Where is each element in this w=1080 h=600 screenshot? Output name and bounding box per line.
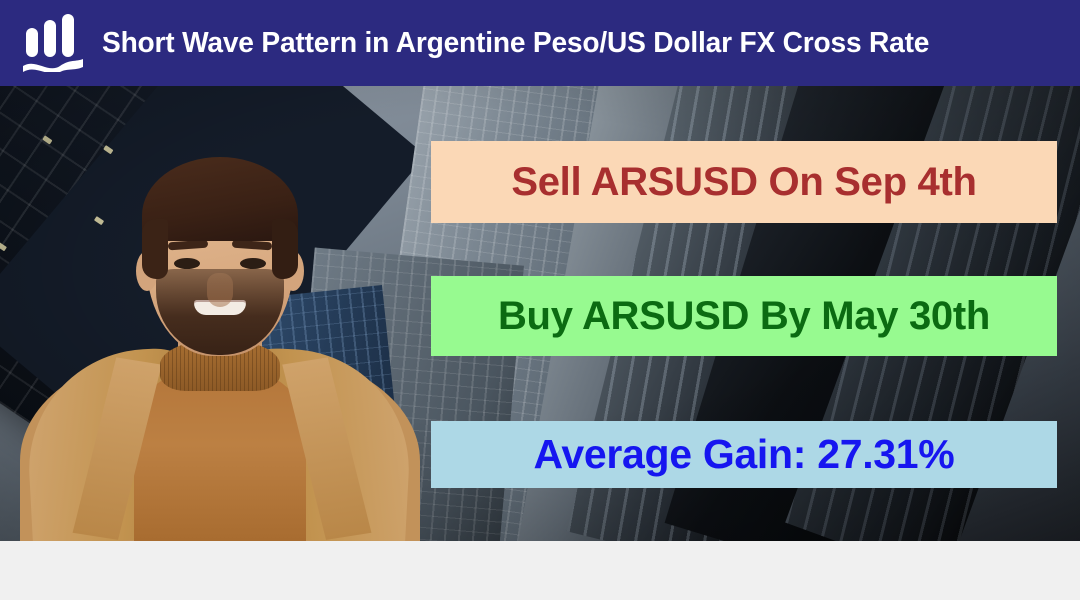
sell-signal-text: Sell ARSUSD On Sep 4th — [511, 160, 976, 205]
average-gain-banner: Average Gain: 27.31% — [431, 421, 1057, 488]
sell-signal-banner: Sell ARSUSD On Sep 4th — [431, 141, 1057, 223]
average-gain-text: Average Gain: 27.31% — [534, 431, 955, 478]
avatar — [20, 111, 420, 541]
buy-signal-text: Buy ARSUSD By May 30th — [498, 294, 990, 339]
page-title: Short Wave Pattern in Argentine Peso/US … — [102, 27, 929, 60]
header-bar: Short Wave Pattern in Argentine Peso/US … — [0, 0, 1080, 86]
buy-signal-banner: Buy ARSUSD By May 30th — [431, 276, 1057, 356]
disclaimer-footer: Based on 10-year history. This is not in… — [0, 541, 1080, 600]
bar-chart-wave-logo-icon — [22, 14, 84, 72]
promo-card: Short Wave Pattern in Argentine Peso/US … — [0, 0, 1080, 600]
